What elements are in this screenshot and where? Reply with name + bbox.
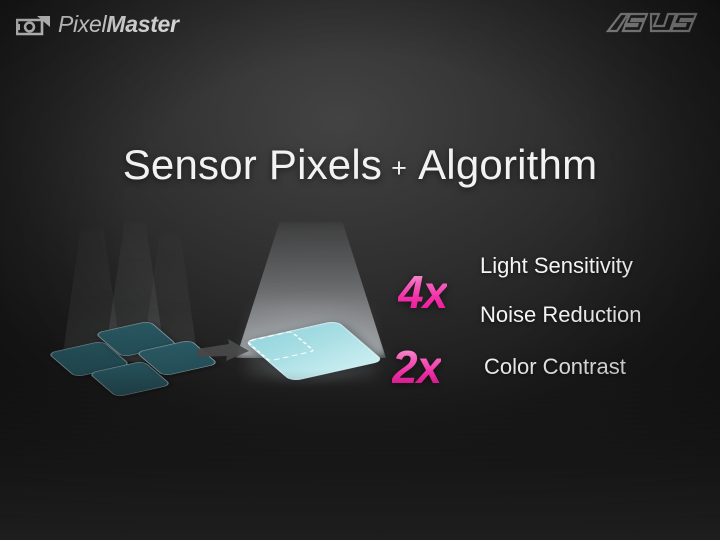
slide-root: PixelMaster Sensor Pixels+Algorithm	[0, 0, 720, 540]
small-pixel-grid	[52, 310, 212, 400]
right-arrow-icon	[195, 338, 251, 368]
headline-sensor-pixels: Sensor Pixels	[123, 141, 382, 188]
pixelmaster-master: Master	[106, 11, 178, 37]
stat-label-light-sensitivity: Light Sensitivity	[480, 253, 633, 279]
headline: Sensor Pixels+Algorithm	[0, 141, 720, 189]
original-pixel-outline	[245, 331, 315, 362]
stat-label-color-contrast: Color Contrast	[484, 354, 626, 380]
large-pixel	[244, 320, 384, 381]
pixelmaster-pixel: Pixel	[58, 11, 106, 37]
headline-plus-operator: +	[382, 153, 416, 183]
camera-icon	[16, 14, 52, 36]
large-pixel-group	[252, 305, 402, 405]
pixelmaster-logo: PixelMaster	[16, 13, 179, 36]
pixelmaster-wordmark: PixelMaster	[58, 13, 179, 36]
stat-label-noise-reduction: Noise Reduction	[480, 302, 641, 328]
multiplier-2x: 2x	[392, 344, 441, 390]
multiplier-4x: 4x	[398, 269, 447, 315]
asus-logo	[606, 10, 698, 40]
stats-panel: 4x 2x Light Sensitivity Noise Reduction …	[392, 250, 702, 400]
headline-algorithm: Algorithm	[416, 141, 597, 188]
